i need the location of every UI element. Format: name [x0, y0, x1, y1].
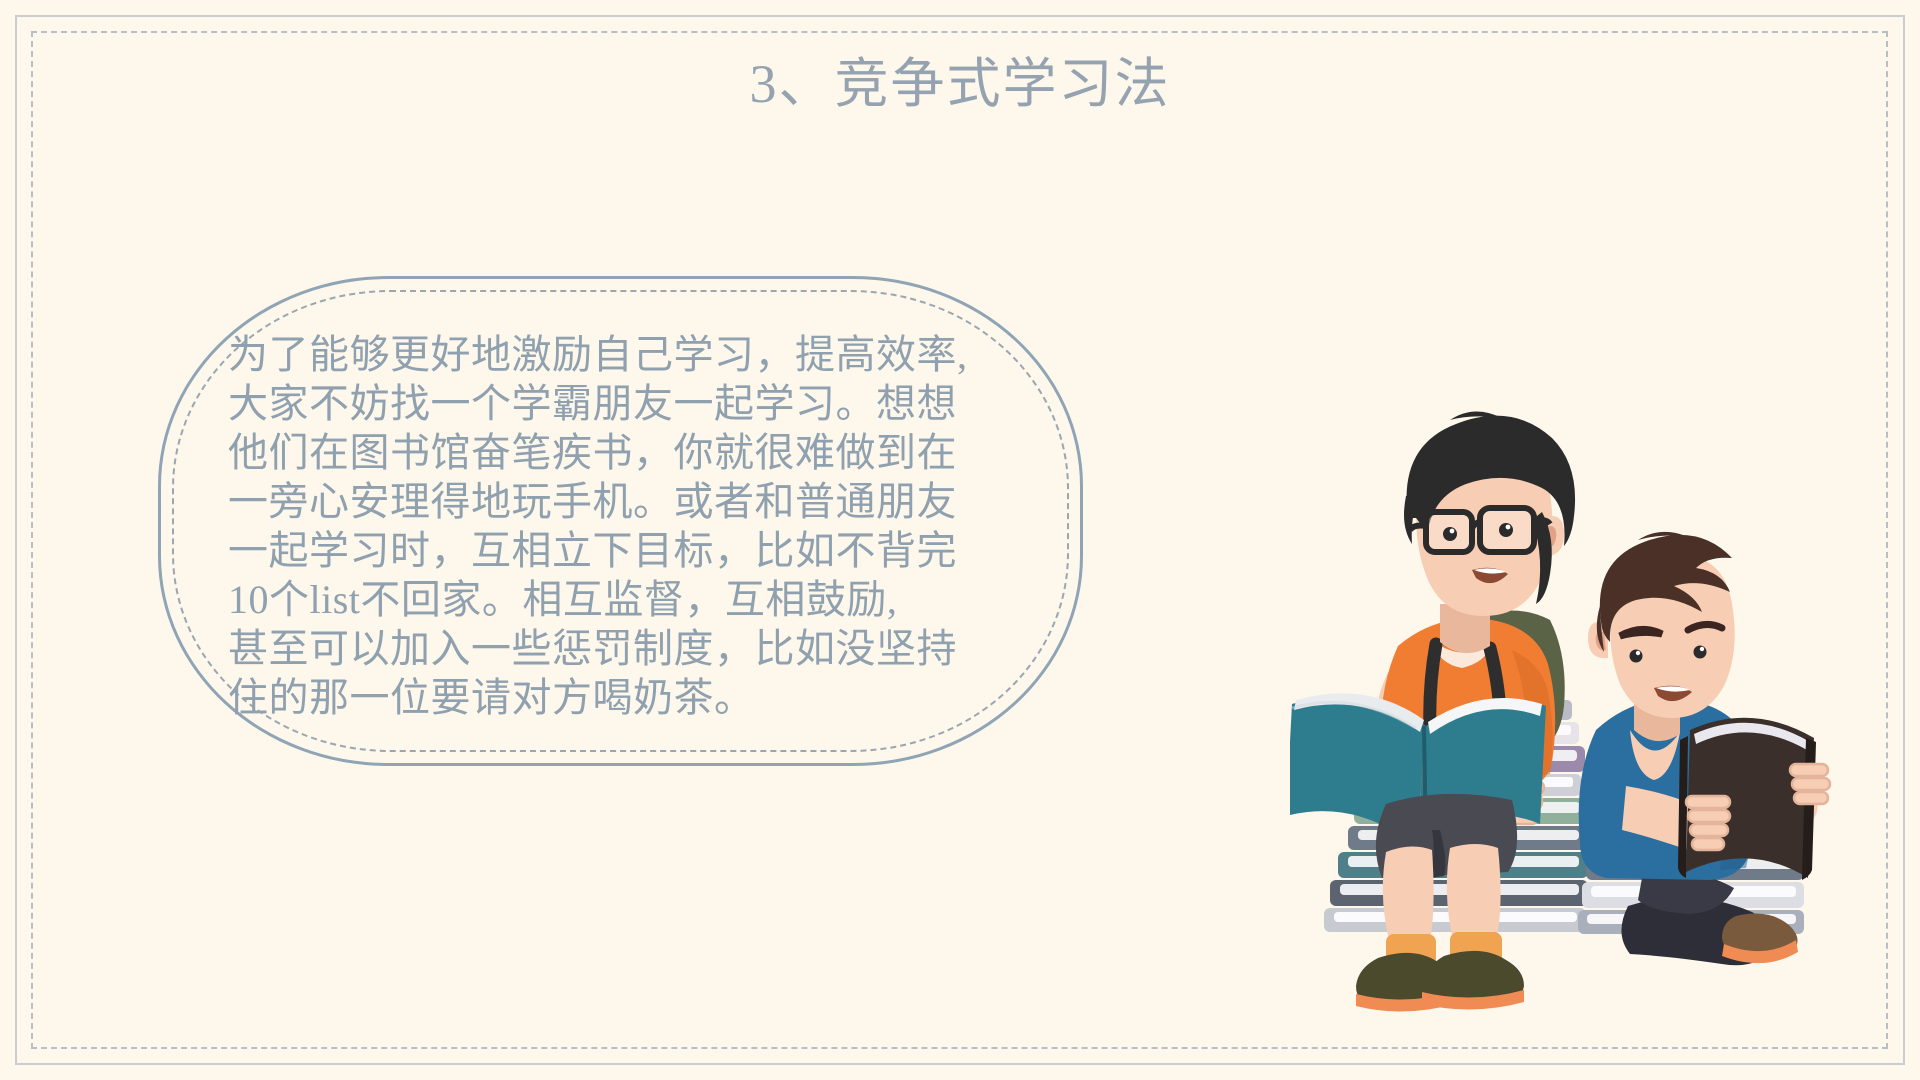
- glasses: [1410, 508, 1550, 552]
- content-paragraph: 为了能够更好地激励自己学习，提高效率, 大家不妨找一个学霸朋友一起学习。想想 他…: [228, 330, 988, 722]
- leg-left: [1383, 846, 1434, 944]
- hand-right: [1790, 764, 1830, 804]
- hand-left: [1686, 796, 1730, 850]
- shoe-right: [1422, 951, 1524, 1010]
- eye-left: [1630, 650, 1643, 663]
- eye-left: [1443, 527, 1457, 541]
- eye-right: [1694, 646, 1707, 659]
- eye-right: [1499, 523, 1513, 537]
- students-reading-illustration: [1290, 400, 1890, 1040]
- slide-canvas: 3、竞争式学习法 为了能够更好地激励自己学习，提高效率, 大家不妨找一个学霸朋友…: [0, 0, 1920, 1080]
- page-title: 3、竞争式学习法: [0, 52, 1920, 117]
- leg-right: [1447, 844, 1501, 944]
